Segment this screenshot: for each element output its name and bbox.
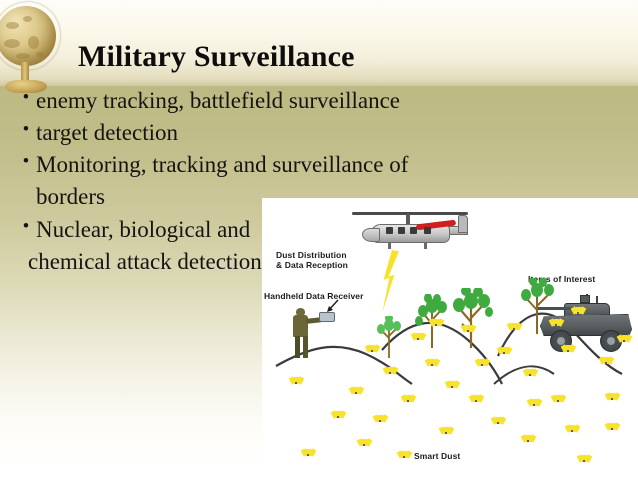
bullet-marker: • (16, 86, 36, 111)
smart-dust-mote-icon (470, 394, 483, 402)
smart-dust-mote-icon (476, 358, 489, 366)
smart-dust-diagram-image: Dust Distribution & Data Reception Handh… (262, 198, 638, 479)
smart-dust-mote-icon (618, 334, 631, 342)
smart-dust-mote-icon (508, 322, 521, 330)
smart-dust-mote-icon (562, 344, 575, 352)
bullet-marker: • (16, 215, 36, 240)
globe-icon (0, 0, 68, 100)
smart-dust-mote-icon (302, 448, 315, 456)
smart-dust-mote-icon (566, 424, 579, 432)
smart-dust-mote-icon (440, 426, 453, 434)
bullet-text: Monitoring, tracking and surveillance of (36, 150, 536, 180)
bullet-text: target detection (36, 118, 536, 148)
smart-dust-mote-icon (290, 376, 303, 384)
smart-dust-mote-icon (430, 318, 443, 326)
bush-icon (448, 288, 494, 348)
smart-dust-mote-icon (412, 332, 425, 340)
bullet-marker: • (16, 118, 36, 143)
smart-dust-mote-icon (384, 366, 397, 374)
smart-dust-mote-icon (522, 434, 535, 442)
globe-meridian-ring (0, 0, 68, 78)
smart-dust-mote-icon (606, 392, 619, 400)
smart-dust-mote-icon (600, 356, 613, 364)
helicopter-icon (348, 206, 470, 252)
label-dust-distribution: Dust Distribution & Data Reception (276, 250, 348, 270)
arrow-icon (324, 299, 340, 313)
smart-dust-mote-icon (528, 398, 541, 406)
bullet-item: • target detection (16, 118, 536, 148)
smart-dust-mote-icon (446, 380, 459, 388)
label-handheld-data-receiver: Handheld Data Receiver (264, 291, 364, 301)
smart-dust-mote-icon (462, 324, 475, 332)
smart-dust-mote-icon (492, 416, 505, 424)
smart-dust-mote-icon (550, 318, 563, 326)
smart-dust-mote-icon (498, 346, 511, 354)
smart-dust-mote-icon (366, 344, 379, 352)
smart-dust-mote-icon (578, 454, 591, 462)
smart-dust-mote-icon (426, 358, 439, 366)
smart-dust-mote-icon (350, 386, 363, 394)
smart-dust-mote-icon (552, 394, 565, 402)
smart-dust-mote-icon (606, 422, 619, 430)
smart-dust-mote-icon (398, 450, 411, 458)
bullet-text: enemy tracking, battlefield surveillance (36, 86, 536, 116)
smart-dust-mote-icon (332, 410, 345, 418)
smart-dust-mote-icon (524, 368, 537, 376)
globe-stem (21, 62, 29, 82)
presentation-slide: Military Surveillance • enemy tracking, … (0, 0, 638, 479)
label-smart-dust: Smart Dust (414, 451, 460, 461)
smart-dust-mote-icon (402, 394, 415, 402)
smart-dust-mote-icon (572, 306, 585, 314)
smart-dust-mote-icon (374, 414, 387, 422)
bullet-marker: • (16, 150, 36, 175)
slide-title: Military Surveillance (78, 40, 598, 74)
bullet-item: • Monitoring, tracking and surveillance … (16, 150, 536, 180)
bullet-item: • enemy tracking, battlefield surveillan… (16, 86, 536, 116)
smart-dust-mote-icon (358, 438, 371, 446)
